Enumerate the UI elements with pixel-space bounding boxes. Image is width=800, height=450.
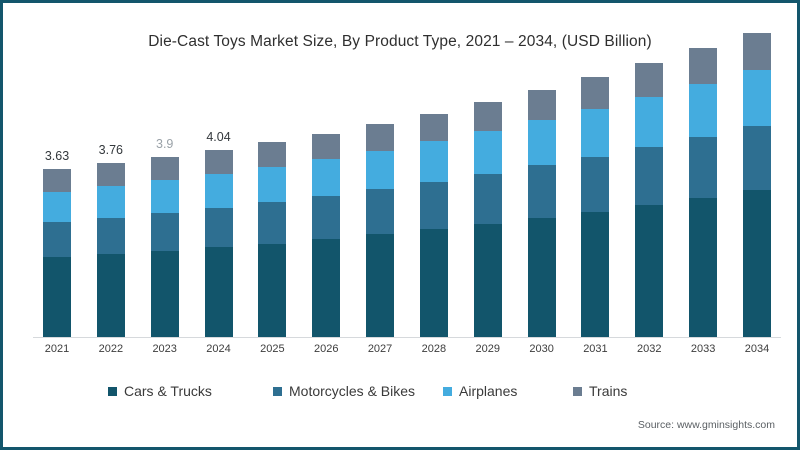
x-axis-tick-2031: 2031 bbox=[581, 343, 609, 355]
legend-item[interactable]: Cars & Trucks bbox=[108, 383, 212, 399]
x-axis-tick-2022: 2022 bbox=[97, 343, 125, 355]
legend-swatch-icon bbox=[273, 387, 282, 396]
stacked-bar[interactable] bbox=[43, 169, 71, 337]
stacked-bar[interactable] bbox=[581, 77, 609, 337]
x-axis-tick-2032: 2032 bbox=[635, 343, 663, 355]
bar-segment[interactable] bbox=[474, 224, 502, 337]
bar-segment[interactable] bbox=[366, 151, 394, 190]
stacked-bar[interactable] bbox=[743, 33, 771, 337]
x-axis-tick-2029: 2029 bbox=[474, 343, 502, 355]
bar-segment[interactable] bbox=[151, 157, 179, 181]
bar-segment[interactable] bbox=[635, 205, 663, 337]
bar-segment[interactable] bbox=[151, 180, 179, 213]
bar-group[interactable] bbox=[312, 78, 340, 337]
bar-value-label: 3.76 bbox=[99, 143, 123, 157]
stacked-bar[interactable] bbox=[258, 142, 286, 337]
chart-title: Die-Cast Toys Market Size, By Product Ty… bbox=[3, 33, 797, 51]
stacked-bar[interactable] bbox=[689, 48, 717, 337]
stacked-bar[interactable] bbox=[420, 114, 448, 337]
bar-segment[interactable] bbox=[366, 234, 394, 337]
bar-segment[interactable] bbox=[474, 102, 502, 131]
bar-segment[interactable] bbox=[312, 159, 340, 196]
stacked-bar[interactable] bbox=[97, 163, 125, 337]
x-axis-tick-2024: 2024 bbox=[205, 343, 233, 355]
bar-segment[interactable] bbox=[635, 147, 663, 205]
bar-segment[interactable] bbox=[205, 150, 233, 174]
stacked-bar[interactable] bbox=[151, 157, 179, 337]
bar-value-label: 4.04 bbox=[206, 130, 230, 144]
bar-segment[interactable] bbox=[205, 174, 233, 208]
stacked-bar[interactable] bbox=[205, 150, 233, 337]
bar-segment[interactable] bbox=[743, 70, 771, 126]
bar-segment[interactable] bbox=[581, 109, 609, 157]
legend-label: Motorcycles & Bikes bbox=[289, 383, 415, 399]
bar-segment[interactable] bbox=[258, 167, 286, 203]
bar-segment[interactable] bbox=[43, 257, 71, 337]
bar-segment[interactable] bbox=[312, 196, 340, 239]
x-axis-tick-2025: 2025 bbox=[258, 343, 286, 355]
bar-segment[interactable] bbox=[258, 202, 286, 243]
bar-group[interactable] bbox=[635, 78, 663, 337]
legend-label: Cars & Trucks bbox=[124, 383, 212, 399]
x-axis-tick-labels: 2021202220232024202520262027202820292030… bbox=[43, 343, 771, 355]
bar-segment[interactable] bbox=[581, 157, 609, 212]
bar-segment[interactable] bbox=[43, 192, 71, 223]
bar-segment[interactable] bbox=[635, 97, 663, 147]
stacked-bar[interactable] bbox=[312, 134, 340, 337]
bar-segment[interactable] bbox=[743, 126, 771, 190]
bar-segment[interactable] bbox=[312, 134, 340, 159]
bar-segment[interactable] bbox=[420, 141, 448, 182]
bar-segment[interactable] bbox=[97, 186, 125, 217]
legend-item[interactable]: Motorcycles & Bikes bbox=[273, 383, 415, 399]
bar-group[interactable] bbox=[420, 78, 448, 337]
source-note: Source: www.gminsights.com bbox=[638, 419, 775, 431]
x-axis-tick-2026: 2026 bbox=[312, 343, 340, 355]
stacked-bar[interactable] bbox=[474, 102, 502, 337]
bars-container: 3.633.763.94.04 bbox=[43, 78, 771, 337]
bar-segment[interactable] bbox=[528, 120, 556, 165]
bar-segment[interactable] bbox=[97, 218, 125, 255]
bar-group[interactable]: 3.63 bbox=[43, 78, 71, 337]
x-axis-tick-2033: 2033 bbox=[689, 343, 717, 355]
bar-segment[interactable] bbox=[97, 254, 125, 337]
bar-segment[interactable] bbox=[420, 182, 448, 229]
x-axis-tick-2028: 2028 bbox=[420, 343, 448, 355]
plot-area: 3.633.763.94.04 bbox=[43, 78, 771, 337]
bar-segment[interactable] bbox=[205, 247, 233, 337]
bar-group[interactable] bbox=[528, 78, 556, 337]
bar-segment[interactable] bbox=[474, 174, 502, 223]
bar-segment[interactable] bbox=[689, 48, 717, 84]
bar-segment[interactable] bbox=[689, 137, 717, 198]
bar-group[interactable]: 3.9 bbox=[151, 78, 179, 337]
bar-segment[interactable] bbox=[743, 33, 771, 70]
bar-segment[interactable] bbox=[205, 208, 233, 247]
legend-label: Airplanes bbox=[459, 383, 517, 399]
stacked-bar[interactable] bbox=[528, 90, 556, 337]
bar-segment[interactable] bbox=[474, 131, 502, 174]
bar-segment[interactable] bbox=[420, 229, 448, 337]
bar-segment[interactable] bbox=[420, 114, 448, 142]
bar-group[interactable] bbox=[581, 78, 609, 337]
bar-segment[interactable] bbox=[743, 190, 771, 337]
legend-swatch-icon bbox=[443, 387, 452, 396]
bar-segment[interactable] bbox=[43, 222, 71, 257]
bar-segment[interactable] bbox=[581, 77, 609, 109]
bar-segment[interactable] bbox=[366, 189, 394, 234]
bar-segment[interactable] bbox=[97, 163, 125, 186]
x-axis-tick-2027: 2027 bbox=[366, 343, 394, 355]
bar-segment[interactable] bbox=[689, 84, 717, 137]
legend-item[interactable]: Trains bbox=[573, 383, 627, 399]
bar-group[interactable] bbox=[366, 78, 394, 337]
bar-segment[interactable] bbox=[528, 90, 556, 121]
bar-segment[interactable] bbox=[151, 251, 179, 337]
bar-group[interactable]: 4.04 bbox=[205, 78, 233, 337]
stacked-bar[interactable] bbox=[635, 63, 663, 337]
bar-group[interactable] bbox=[743, 78, 771, 337]
bar-segment[interactable] bbox=[366, 124, 394, 150]
x-axis-tick-2030: 2030 bbox=[528, 343, 556, 355]
bar-segment[interactable] bbox=[528, 218, 556, 337]
chart-frame: Die-Cast Toys Market Size, By Product Ty… bbox=[0, 0, 800, 450]
bar-group[interactable] bbox=[689, 78, 717, 337]
bar-segment[interactable] bbox=[635, 63, 663, 97]
bar-segment[interactable] bbox=[258, 244, 286, 337]
stacked-bar[interactable] bbox=[366, 124, 394, 337]
bar-group[interactable]: 3.76 bbox=[97, 78, 125, 337]
bar-value-label: 3.9 bbox=[156, 137, 173, 151]
x-axis-tick-2023: 2023 bbox=[151, 343, 179, 355]
bar-segment[interactable] bbox=[43, 169, 71, 192]
bar-segment[interactable] bbox=[258, 142, 286, 167]
bar-group[interactable] bbox=[258, 78, 286, 337]
bar-value-label: 3.63 bbox=[45, 149, 69, 163]
legend-swatch-icon bbox=[573, 387, 582, 396]
bar-segment[interactable] bbox=[689, 198, 717, 337]
bar-segment[interactable] bbox=[312, 239, 340, 337]
bar-segment[interactable] bbox=[581, 212, 609, 337]
x-axis-tick-2034: 2034 bbox=[743, 343, 771, 355]
legend-item[interactable]: Airplanes bbox=[443, 383, 517, 399]
legend-label: Trains bbox=[589, 383, 627, 399]
legend-swatch-icon bbox=[108, 387, 117, 396]
x-axis-tick-2021: 2021 bbox=[43, 343, 71, 355]
bar-segment[interactable] bbox=[151, 213, 179, 251]
x-axis-line bbox=[33, 337, 781, 338]
bar-group[interactable] bbox=[474, 78, 502, 337]
bar-segment[interactable] bbox=[528, 165, 556, 217]
